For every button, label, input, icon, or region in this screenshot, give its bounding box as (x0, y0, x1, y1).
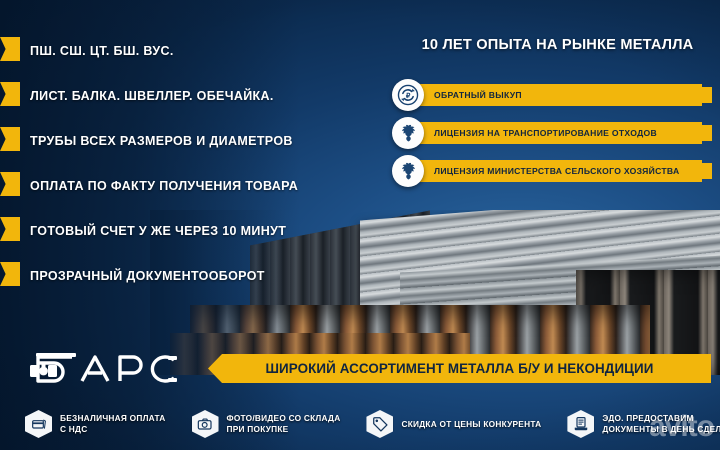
feature-label: ПРОЗРАЧНЫЙ ДОКУМЕНТООБОРОТ (30, 269, 265, 283)
svg-text:₽: ₽ (406, 92, 411, 100)
bottom-feature-label: ФОТО/ВИДЕО СО СКЛАДА ПРИ ПОКУПКЕ (227, 413, 341, 435)
label-line-1: ФОТО/ВИДЕО СО СКЛАДА (227, 413, 341, 424)
camera-icon (192, 410, 219, 438)
feature-label: ОПЛАТА ПО ФАКТУ ПОЛУЧЕНИЯ ТОВАРА (30, 179, 298, 193)
bottom-feature-label: СКИДКА ОТ ЦЕНЫ КОНКУРЕНТА (401, 419, 541, 430)
ribbon-marker-icon (0, 217, 20, 241)
list-item: ПШ. СШ. ЦТ. БШ. ВУС. (0, 28, 360, 73)
label-line-1: СКИДКА ОТ ЦЕНЫ КОНКУРЕНТА (401, 419, 541, 430)
badge-label: ЛИЦЕНЗИЯ НА ТРАНСПОРТИРОВАНИЕ ОТХОДОВ (434, 122, 657, 144)
feature-label: ГОТОВЫЙ СЧЕТ У ЖЕ ЧЕРЕЗ 10 МИНУТ (30, 224, 286, 238)
badge-buyback: ₽ ОБРАТНЫЙ ВЫКУП (392, 84, 712, 106)
feature-label: ЛИСТ. БАЛКА. ШВЕЛЛЕР. ОБЕЧАЙКА. (30, 89, 274, 103)
list-item: ЛИСТ. БАЛКА. ШВЕЛЛЕР. ОБЕЧАЙКА. (0, 73, 360, 118)
label-line-1: БЕЗНАЛИЧНАЯ ОПЛАТА (60, 413, 166, 424)
left-feature-list: ПШ. СШ. ЦТ. БШ. ВУС. ЛИСТ. БАЛКА. ШВЕЛЛЕ… (0, 28, 360, 298)
company-logo: БАРС (22, 347, 197, 391)
bottom-feature-competitor-discount: СКИДКА ОТ ЦЕНЫ КОНКУРЕНТА (366, 410, 541, 438)
certification-badge-list: ₽ ОБРАТНЫЙ ВЫКУП ЛИЦЕНЗИЯ НА ТРАНСПОРТИР… (392, 84, 712, 198)
advertisement-banner: ПШ. СШ. ЦТ. БШ. ВУС. ЛИСТ. БАЛКА. ШВЕЛЛЕ… (0, 0, 720, 450)
ribbon-marker-icon (0, 82, 20, 106)
bottom-feature-label: БЕЗНАЛИЧНАЯ ОПЛАТА С НДС (60, 413, 166, 435)
ribbon-marker-icon (0, 172, 20, 196)
avito-watermark: avito (649, 410, 714, 444)
ribbon-marker-icon (0, 37, 20, 61)
list-item: ТРУБЫ ВСЕХ РАЗМЕРОВ И ДИАМЕТРОВ (0, 118, 360, 163)
ribbon-marker-icon (0, 127, 20, 151)
list-item: ПРОЗРАЧНЫЙ ДОКУМЕНТООБОРОТ (0, 253, 360, 298)
feature-label: ПШ. СШ. ЦТ. БШ. ВУС. (30, 44, 174, 58)
page-title: 10 ЛЕТ ОПЫТА НА РЫНКЕ МЕТАЛЛА (405, 37, 710, 53)
list-item: ГОТОВЫЙ СЧЕТ У ЖЕ ЧЕРЕЗ 10 МИНУТ (0, 208, 360, 253)
assortment-banner: ШИРОКИЙ АССОРТИМЕНТ МЕТАЛЛА Б/У И НЕКОНД… (208, 354, 711, 383)
badge-label: ЛИЦЕНЗИЯ МИНИСТЕРСТВА СЕЛЬСКОГО ХОЗЯЙСТВ… (434, 160, 680, 182)
credit-card-icon (25, 410, 52, 438)
label-line-2: С НДС (60, 424, 166, 435)
banner-label: ШИРОКИЙ АССОРТИМЕНТ МЕТАЛЛА Б/У И НЕКОНД… (208, 354, 711, 383)
bottom-feature-row: БЕЗНАЛИЧНАЯ ОПЛАТА С НДС ФОТО/ВИДЕО СО С… (0, 398, 720, 450)
list-item: ОПЛАТА ПО ФАКТУ ПОЛУЧЕНИЯ ТОВАРА (0, 163, 360, 208)
double-headed-eagle-icon (392, 155, 424, 187)
label-line-2: ПРИ ПОКУПКЕ (227, 424, 341, 435)
bottom-feature-cashless-payment: БЕЗНАЛИЧНАЯ ОПЛАТА С НДС (25, 410, 166, 438)
feature-label: ТРУБЫ ВСЕХ РАЗМЕРОВ И ДИАМЕТРОВ (30, 134, 293, 148)
ribbon-marker-icon (0, 262, 20, 286)
badge-label: ОБРАТНЫЙ ВЫКУП (434, 84, 522, 106)
price-tag-icon (366, 410, 393, 438)
badge-waste-transport-license: ЛИЦЕНЗИЯ НА ТРАНСПОРТИРОВАНИЕ ОТХОДОВ (392, 122, 712, 144)
double-headed-eagle-icon (392, 117, 424, 149)
buyback-arrows-icon: ₽ (392, 79, 424, 111)
bottom-feature-photo-video: ФОТО/ВИДЕО СО СКЛАДА ПРИ ПОКУПКЕ (192, 410, 341, 438)
badge-agriculture-ministry-license: ЛИЦЕНЗИЯ МИНИСТЕРСТВА СЕЛЬСКОГО ХОЗЯЙСТВ… (392, 160, 712, 182)
document-monitor-icon (567, 410, 594, 438)
